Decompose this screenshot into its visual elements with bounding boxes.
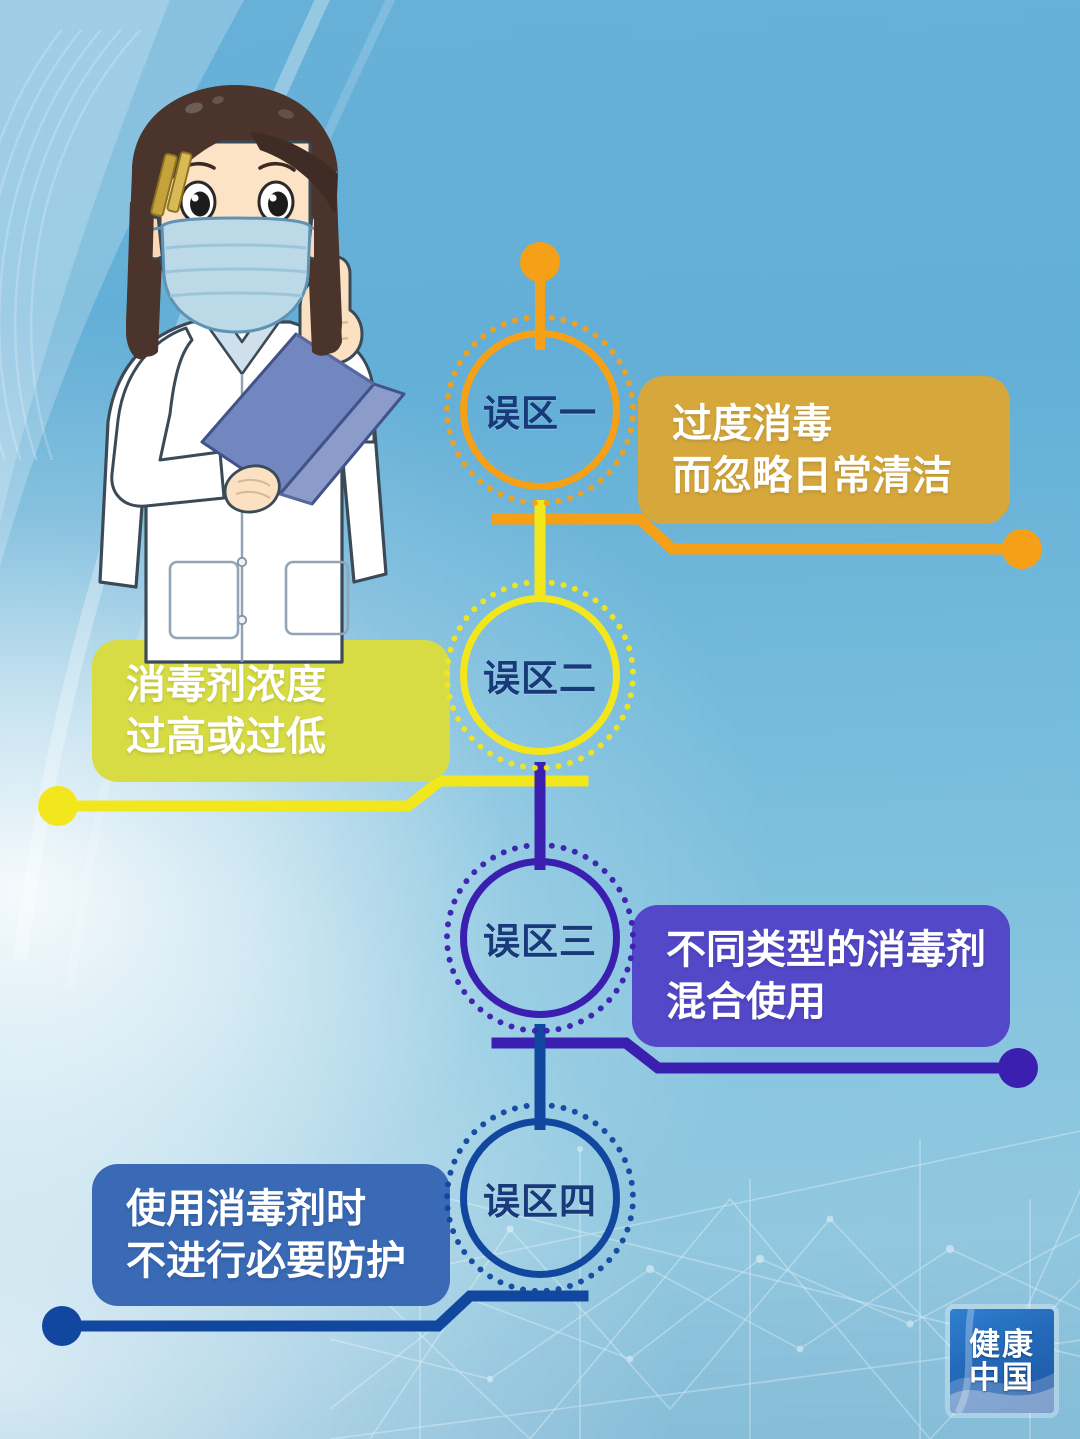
step-4-text-line-1: 使用消毒剂时: [126, 1183, 416, 1235]
step-1-callout[interactable]: 过度消毒 而忽略日常清洁: [638, 376, 1010, 524]
step-3-end-dot: [998, 1048, 1038, 1088]
step-4-circle[interactable]: 误区四: [460, 1118, 620, 1278]
step-3-callout[interactable]: 不同类型的消毒剂 混合使用: [632, 905, 1010, 1047]
step-4-callout[interactable]: 使用消毒剂时 不进行必要防护: [92, 1164, 450, 1306]
step-1-text-line-1: 过度消毒: [672, 398, 976, 450]
step-3-circle-label: 误区三: [483, 911, 597, 965]
step-4-text-line-2: 不进行必要防护: [126, 1235, 416, 1287]
step-1-circle[interactable]: 误区一: [460, 330, 620, 490]
doctor-holding-hand: [225, 466, 279, 512]
healthy-china-logo[interactable]: 健康 中国: [950, 1309, 1054, 1413]
logo-line-2: 中国: [969, 1361, 1035, 1394]
doctor-illustration: [74, 22, 424, 672]
step-2-circle-label: 误区二: [483, 648, 597, 702]
step-3-circle[interactable]: 误区三: [460, 858, 620, 1018]
step-4-end-dot: [42, 1306, 82, 1346]
step-2-end-dot: [38, 786, 78, 826]
step-1-end-dot: [1002, 529, 1042, 569]
step-2-circle[interactable]: 误区二: [460, 595, 620, 755]
logo-line-1: 健康: [969, 1328, 1035, 1361]
step-3-text-line-1: 不同类型的消毒剂: [666, 924, 976, 976]
timeline-start-node: [520, 242, 560, 282]
step-3-text-line-2: 混合使用: [666, 976, 976, 1028]
step-1-text-line-2: 而忽略日常清洁: [672, 450, 976, 502]
step-4-circle-label: 误区四: [483, 1171, 597, 1225]
infographic-poster: 误区一 误区二 误区三 误区四 过度消毒 而忽略日常清洁 消毒剂浓度 过高或过低…: [0, 0, 1080, 1439]
step-1-circle-label: 误区一: [483, 383, 597, 437]
step-2-text-line-2: 过高或过低: [126, 711, 416, 763]
